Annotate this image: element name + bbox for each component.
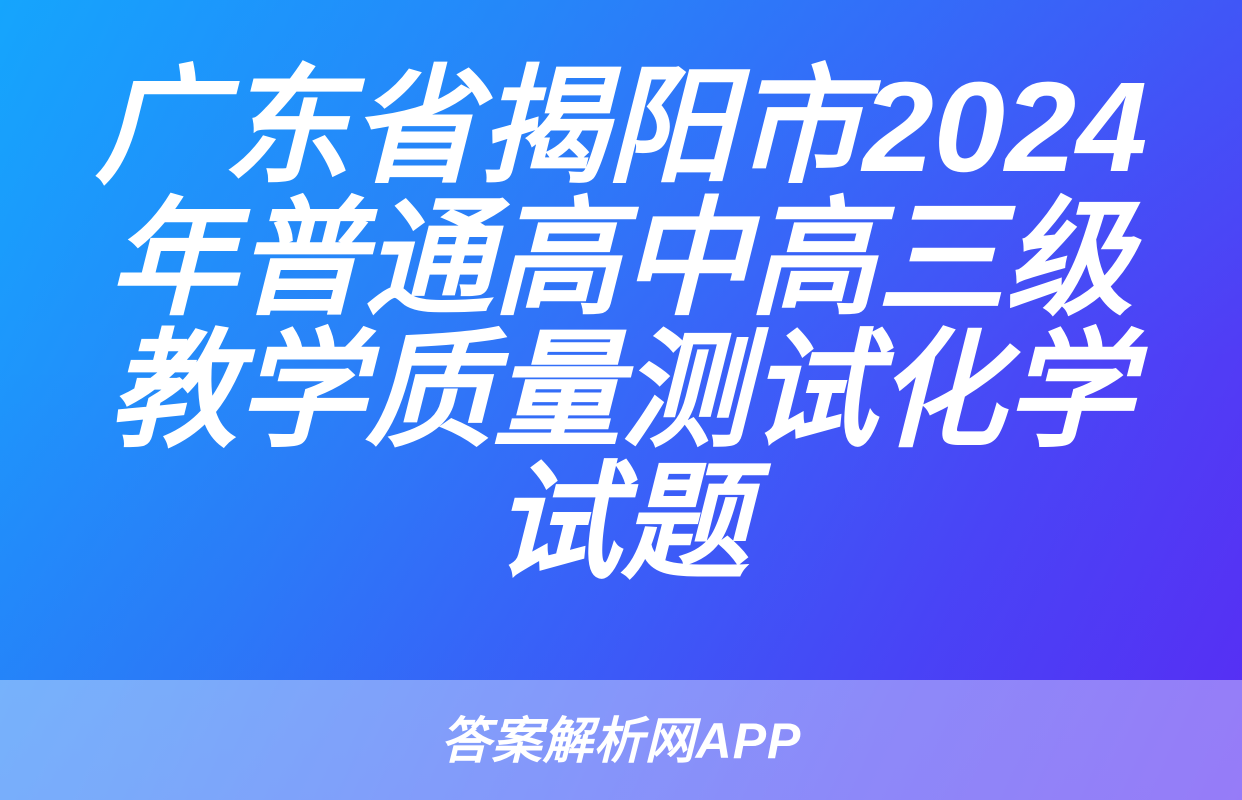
title-container: 广东省揭阳市2024年普通高中高三级教学质量测试化学试题 [0, 0, 1242, 680]
exam-cover-page: 广东省揭阳市2024年普通高中高三级教学质量测试化学试题 答案解析网APP [0, 0, 1242, 800]
page-title: 广东省揭阳市2024年普通高中高三级教学质量测试化学试题 [74, 62, 1168, 590]
watermark-band: 答案解析网APP [0, 680, 1242, 800]
watermark-text: 答案解析网APP [441, 714, 802, 768]
